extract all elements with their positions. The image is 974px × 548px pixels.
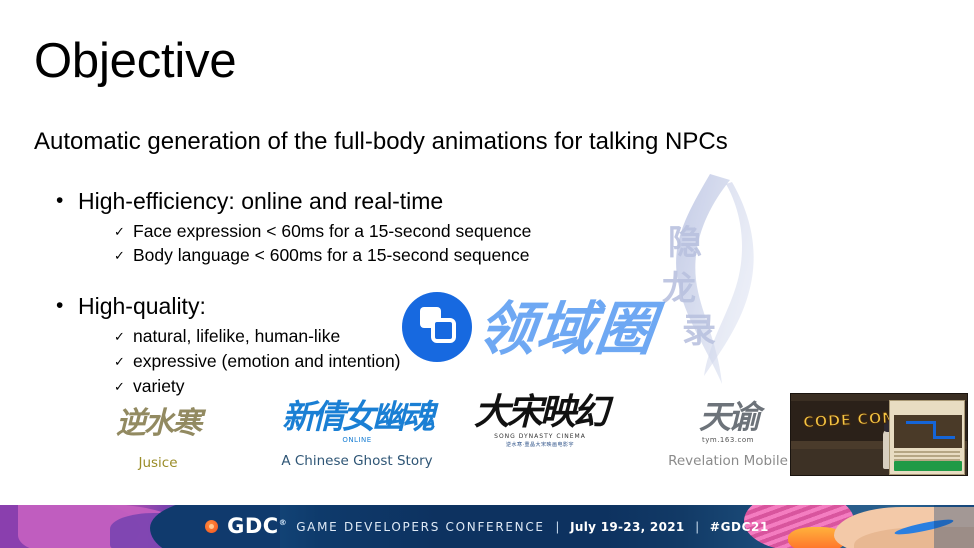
bullet-list: • High-efficiency: online and real-time …	[56, 188, 756, 398]
check-icon: ✓	[114, 353, 133, 371]
song-dynasty-logo-art: 大宋映幻 SONG DYNASTY CINEMA 逆水寒·重晶大宋映画电影宇	[455, 392, 625, 450]
list-item-label: Face expression < 60ms for a 15-second s…	[133, 219, 531, 244]
check-icon: ✓	[114, 328, 133, 346]
registered-mark: ®	[279, 518, 288, 527]
logo-revelation-mobile: 天谕 tym.163.com Revelation Mobile	[648, 396, 808, 469]
revelation-glyphs: 天谕	[699, 401, 757, 433]
bullet-heading: High-efficiency: online and real-time	[78, 188, 443, 216]
logo-caption: Jusice	[78, 455, 238, 471]
bullet-dot-icon: •	[56, 190, 78, 211]
presentation-slide: 隐 龙 录 Objective Automatic generation of …	[0, 0, 974, 548]
list-item: ✓ Face expression < 60ms for a 15-second…	[114, 219, 756, 244]
logo-code-combat: CODE COMBAT	[790, 393, 968, 476]
logo-justice: 逆水寒 Jusice	[78, 398, 238, 471]
logo-song-dynasty-cinema: 大宋映幻 SONG DYNASTY CINEMA 逆水寒·重晶大宋映画电影宇	[455, 392, 625, 455]
list-item: ✓ Body language < 600ms for a 15-second …	[114, 243, 756, 268]
bullet-point-efficiency: • High-efficiency: online and real-time	[56, 188, 756, 216]
song-dynasty-subtext-cn: 逆水寒·重晶大宋映画电影宇	[474, 441, 606, 448]
footer-separator: |	[556, 519, 559, 534]
logo-caption: A Chinese Ghost Story	[272, 453, 442, 469]
ghost-story-subtext: ONLINE	[282, 436, 432, 444]
sub-list-efficiency: ✓ Face expression < 60ms for a 15-second…	[114, 219, 756, 269]
footer-tagline: GAME DEVELOPERS CONFERENCE	[296, 520, 545, 534]
footer-separator: |	[696, 519, 699, 534]
spacer	[56, 268, 756, 293]
game-minimap	[894, 415, 962, 448]
ghost-story-logo-art: 新倩女幽魂 ONLINE	[272, 396, 442, 448]
ghost-story-glyphs: 新倩女幽魂	[282, 400, 432, 433]
check-icon: ✓	[114, 223, 133, 241]
game-side-panel	[889, 400, 965, 475]
gdc-logo-text: GDC	[227, 514, 279, 538]
justice-glyphs: 逆水寒	[116, 409, 200, 439]
footer-hashtag: #GDC21	[710, 520, 769, 534]
game-action-button	[894, 461, 962, 471]
justice-logo-art: 逆水寒	[78, 398, 238, 450]
gdc-footer-banner: GDC® GAME DEVELOPERS CONFERENCE | July 1…	[0, 505, 974, 548]
gdc-dot-icon	[205, 520, 218, 533]
footer-content: GDC® GAME DEVELOPERS CONFERENCE | July 1…	[0, 505, 974, 548]
logo-caption: Revelation Mobile	[648, 453, 808, 469]
bullet-point-quality: • High-quality:	[56, 293, 756, 321]
footer-dates: July 19-23, 2021	[570, 520, 684, 534]
song-dynasty-subtext: SONG DYNASTY CINEMA	[474, 433, 606, 440]
logo-chinese-ghost-story: 新倩女幽魂 ONLINE A Chinese Ghost Story	[272, 396, 442, 469]
revelation-logo-art: 天谕 tym.163.com	[648, 396, 808, 448]
path-arrow-segment	[933, 436, 955, 439]
page-title: Objective	[34, 36, 236, 87]
list-item-label: expressive (emotion and intention)	[133, 349, 401, 374]
check-icon: ✓	[114, 247, 133, 265]
list-item: ✓ expressive (emotion and intention)	[114, 349, 756, 374]
song-dynasty-glyphs: 大宋映幻	[474, 395, 606, 431]
list-item: ✓ natural, lifelike, human-like	[114, 324, 756, 349]
sub-list-quality: ✓ natural, lifelike, human-like ✓ expres…	[114, 324, 756, 399]
revelation-url: tym.163.com	[699, 436, 757, 444]
path-arrow-segment	[906, 421, 936, 424]
slide-subtitle: Automatic generation of the full-body an…	[34, 128, 728, 156]
list-item-label: Body language < 600ms for a 15-second se…	[133, 243, 529, 268]
list-item-label: natural, lifelike, human-like	[133, 324, 340, 349]
bullet-dot-icon: •	[56, 295, 78, 316]
gdc-logo: GDC®	[227, 516, 287, 537]
bullet-heading: High-quality:	[78, 293, 206, 321]
